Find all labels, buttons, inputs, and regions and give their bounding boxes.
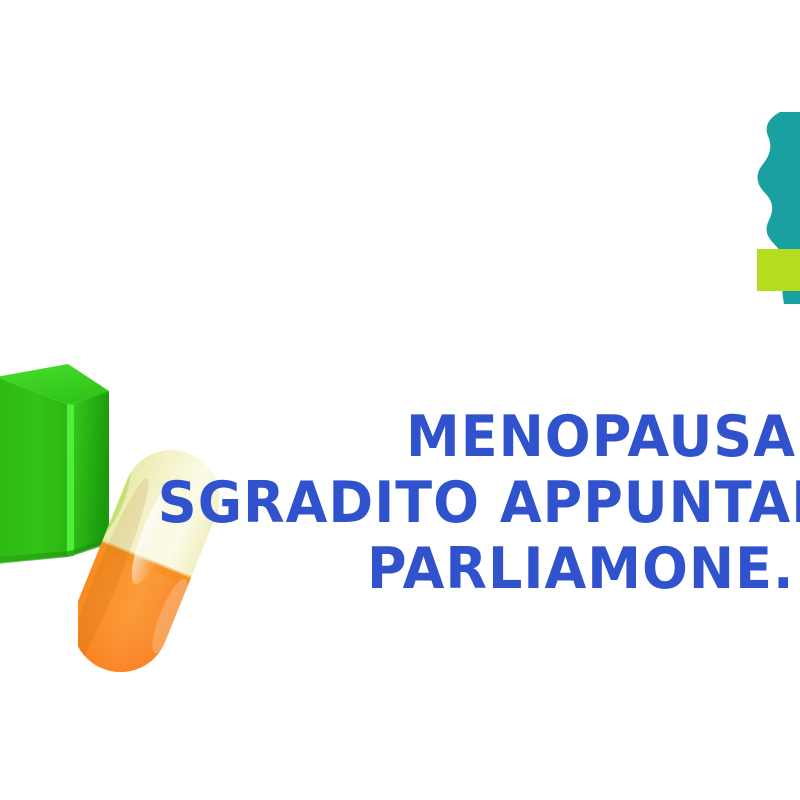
headline-line-1: MENOPAUSA	[0, 402, 800, 472]
lime-square	[757, 249, 800, 291]
headline-line-3: PARLIAMONE..	[0, 534, 800, 604]
headline: MENOPAUSA SGRADITO APPUNTAM PARLIAMONE..	[0, 404, 800, 602]
poster-canvas: MENOPAUSA SGRADITO APPUNTAM PARLIAMONE..	[0, 0, 800, 800]
headline-line-2: SGRADITO APPUNTAM	[0, 468, 800, 538]
